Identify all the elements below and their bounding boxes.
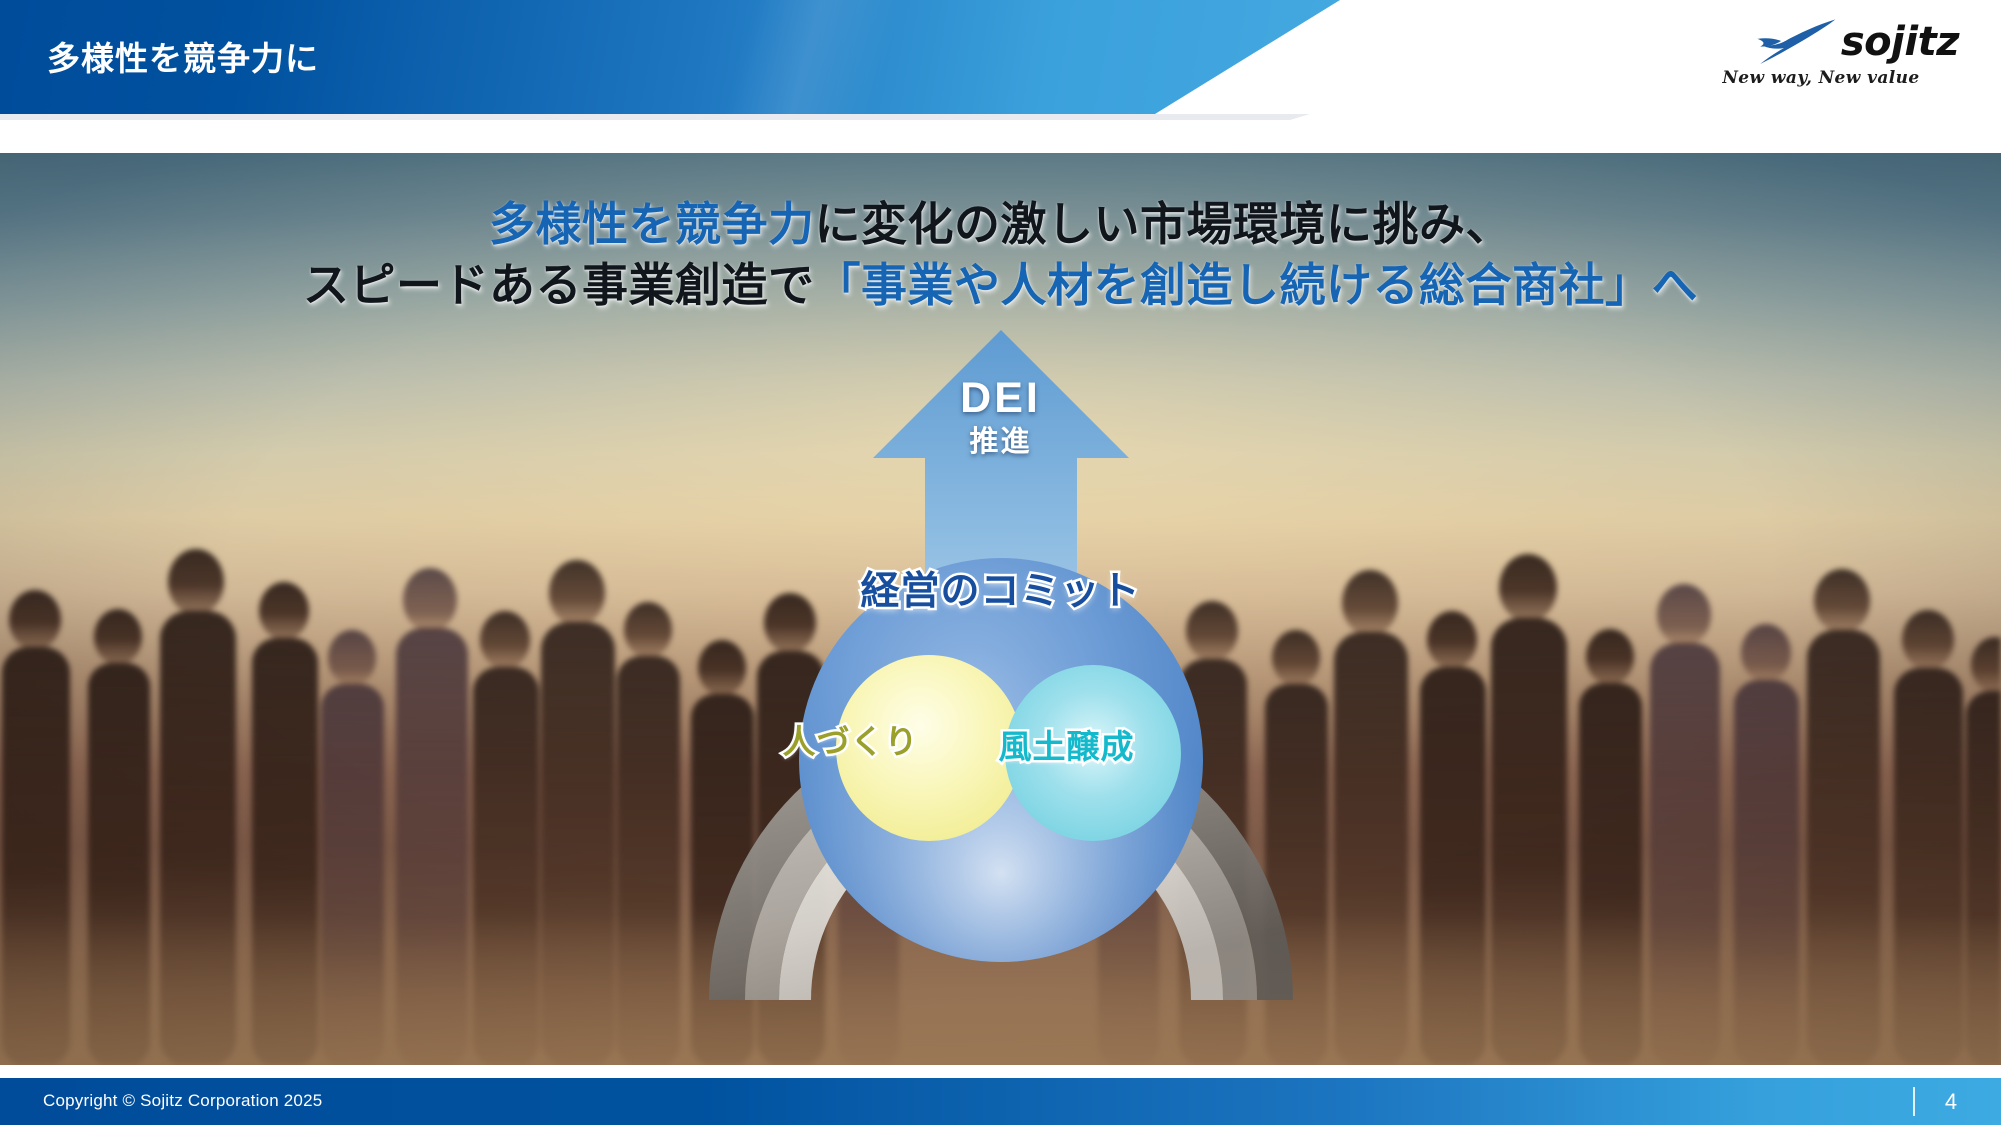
sojitz-tagline: New way, New value	[1689, 68, 1959, 88]
bubble-hitsukuri	[836, 655, 1022, 841]
slide: 多様性を競争力に変化の激しい市場環境に挑み、 スピードある事業創造で「事業や人材…	[0, 0, 2001, 1125]
page-title: 多様性を競争力に	[47, 32, 319, 80]
sojitz-wordmark: sojitz	[1841, 22, 1959, 62]
header-underline	[0, 114, 1310, 120]
footer-divider	[1913, 1087, 1915, 1116]
logo-row: sojitz	[1689, 16, 1959, 66]
sojitz-bird-icon	[1753, 18, 1837, 64]
sojitz-logo: sojitz New way, New value	[1689, 16, 1959, 94]
dei-diagram: DEI 推進 経営のコミット 人づくり 風土醸成	[681, 320, 1321, 1000]
copyright-text: Copyright © Sojitz Corporation 2025	[43, 1091, 322, 1111]
page-number: 4	[1933, 1089, 1969, 1115]
slide-footer: Copyright © Sojitz Corporation 2025 4	[0, 1078, 2001, 1125]
bubble-fudojosei	[1005, 665, 1181, 841]
slide-header: 多様性を競争力に sojitz New way, New value	[0, 0, 2001, 118]
